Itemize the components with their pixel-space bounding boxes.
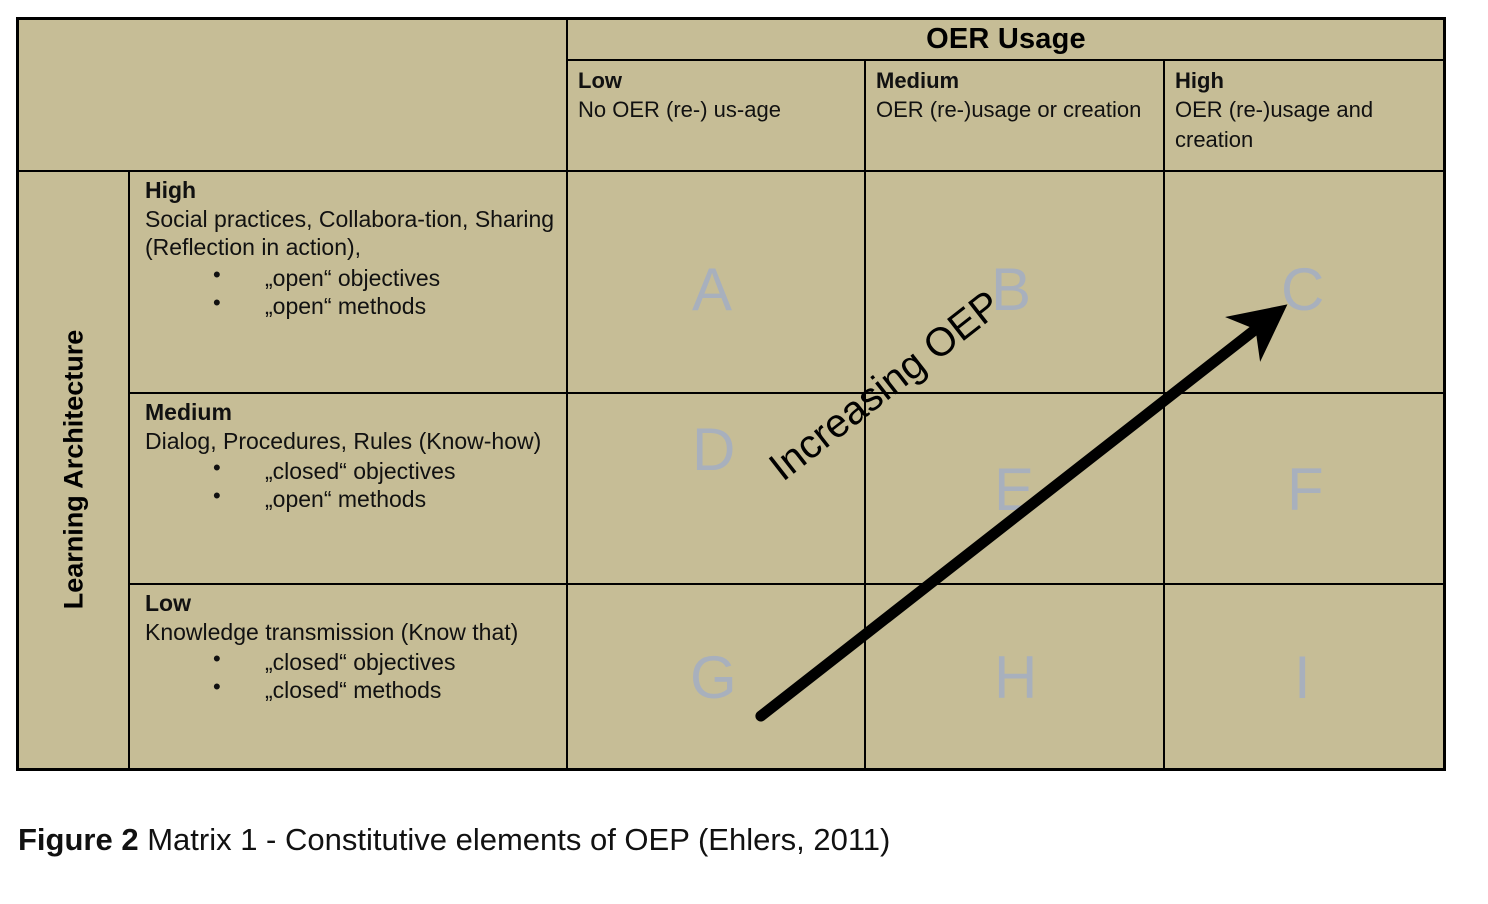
row-header-medium-description: Dialog, Procedures, Rules (Know-how) <box>145 427 563 456</box>
column-header-medium: Medium OER (re-)usage or creation <box>866 61 1163 169</box>
matrix-cell-i: I <box>1294 648 1311 708</box>
list-item: „closed“ objectives <box>213 457 563 485</box>
figure-caption: Figure 2 Matrix 1 - Constitutive element… <box>18 822 890 858</box>
column-header-high-level: High <box>1175 66 1435 95</box>
figure-caption-prefix: Figure 2 <box>18 822 139 857</box>
arrow-label: Increasing OEP <box>761 282 1009 490</box>
matrix-cell-g: G <box>690 648 737 708</box>
list-item: „open“ methods <box>213 292 563 320</box>
figure-caption-text: Matrix 1 - Constitutive elements of OEP … <box>139 822 891 857</box>
matrix-cell-h: H <box>994 648 1037 708</box>
row-header-low-bullets: „closed“ objectives „closed“ methods <box>145 648 563 704</box>
column-header-medium-level: Medium <box>876 66 1155 95</box>
figure-oep-matrix: OER Usage Low No OER (re-) us-age Medium… <box>16 17 1446 771</box>
row-header-low-level: Low <box>145 589 563 618</box>
matrix-cell-a: A <box>692 260 732 320</box>
list-item: „closed“ objectives <box>213 648 563 676</box>
column-header-low-description: No OER (re-) us-age <box>578 95 856 124</box>
matrix-cell-f: F <box>1287 460 1324 520</box>
column-header-high-description: OER (re-)usage and creation <box>1175 95 1435 154</box>
row-header-medium-bullets: „closed“ objectives „open“ methods <box>145 457 563 513</box>
column-header-low-level: Low <box>578 66 856 95</box>
row-axis-title: Learning Architecture <box>19 170 128 768</box>
row-header-medium-level: Medium <box>145 398 563 427</box>
column-header-low: Low No OER (re-) us-age <box>568 61 864 169</box>
matrix-cell-c: C <box>1281 260 1324 320</box>
list-item: „open“ objectives <box>213 264 563 292</box>
matrix-cell-e: E <box>994 460 1034 520</box>
row-header-low-description: Knowledge transmission (Know that) <box>145 618 563 647</box>
column-header-medium-description: OER (re-)usage or creation <box>876 95 1155 124</box>
row-header-low: Low Knowledge transmission (Know that) „… <box>131 585 569 768</box>
grid-vline-axis <box>128 170 130 768</box>
matrix-cell-d: D <box>692 420 735 480</box>
row-header-high-bullets: „open“ objectives „open“ methods <box>145 264 563 320</box>
row-axis-title-text: Learning Architecture <box>58 329 89 609</box>
column-header-high: High OER (re-)usage and creation <box>1165 61 1443 169</box>
row-header-high-description: Social practices, Collabora-tion, Sharin… <box>145 205 563 262</box>
column-axis-title: OER Usage <box>569 20 1443 59</box>
row-header-high-level: High <box>145 176 563 205</box>
row-header-medium: Medium Dialog, Procedures, Rules (Know-h… <box>131 394 569 583</box>
list-item: „closed“ methods <box>213 676 563 704</box>
matrix-table: OER Usage Low No OER (re-) us-age Medium… <box>16 17 1446 771</box>
row-header-high: High Social practices, Collabora-tion, S… <box>131 172 569 392</box>
list-item: „open“ methods <box>213 485 563 513</box>
